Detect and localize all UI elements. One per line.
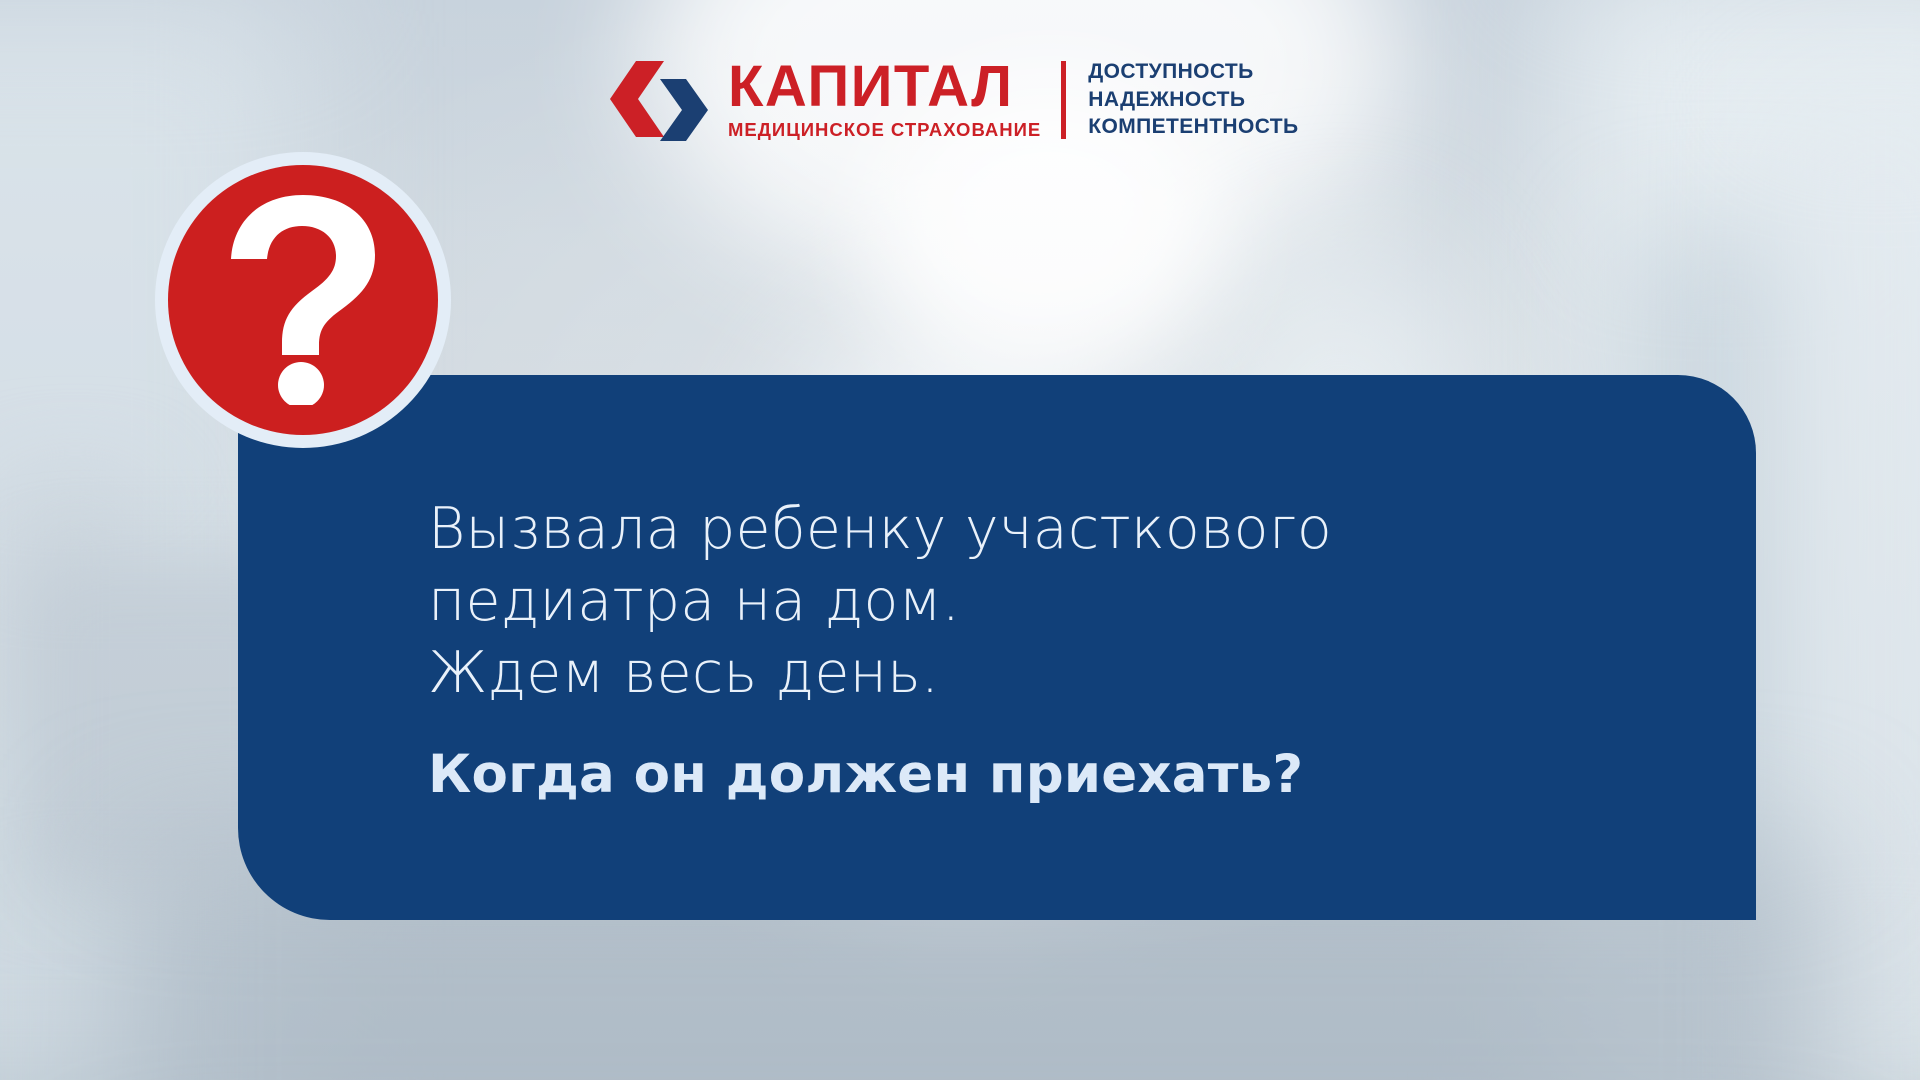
- message-question: Когда он должен приехать?: [428, 743, 1716, 807]
- message-line-2: педиатра на дом.: [428, 566, 1716, 638]
- tagline-line-1: ДОСТУПНОСТЬ: [1088, 60, 1298, 85]
- message-text-block: Вызвала ребенку участкового педиатра на …: [428, 375, 1716, 920]
- question-mark-icon: [168, 165, 438, 435]
- message-line-3: Ждем весь день.: [428, 638, 1716, 710]
- brand-name: КАПИТАЛ: [728, 59, 1041, 114]
- message-panel: Вызвала ребенку участкового педиатра на …: [238, 375, 1756, 920]
- message-line-1: Вызвала ребенку участкового: [428, 494, 1716, 566]
- double-chevron-logo-icon: [608, 57, 714, 143]
- brand-tagline: ДОСТУПНОСТЬ НАДЕЖНОСТЬ КОМПЕТЕНТНОСТЬ: [1088, 60, 1298, 140]
- logo-divider: [1061, 61, 1066, 139]
- brand-wordmark: КАПИТАЛ МЕДИЦИНСКОЕ СТРАХОВАНИЕ: [728, 59, 1041, 141]
- brand-subtitle: МЕДИЦИНСКОЕ СТРАХОВАНИЕ: [728, 119, 1041, 141]
- tagline-line-2: НАДЕЖНОСТЬ: [1088, 88, 1298, 113]
- tagline-line-3: КОМПЕТЕНТНОСТЬ: [1088, 115, 1298, 140]
- brand-logo: КАПИТАЛ МЕДИЦИНСКОЕ СТРАХОВАНИЕ ДОСТУПНО…: [608, 52, 1299, 148]
- poster-canvas: КАПИТАЛ МЕДИЦИНСКОЕ СТРАХОВАНИЕ ДОСТУПНО…: [0, 0, 1920, 1080]
